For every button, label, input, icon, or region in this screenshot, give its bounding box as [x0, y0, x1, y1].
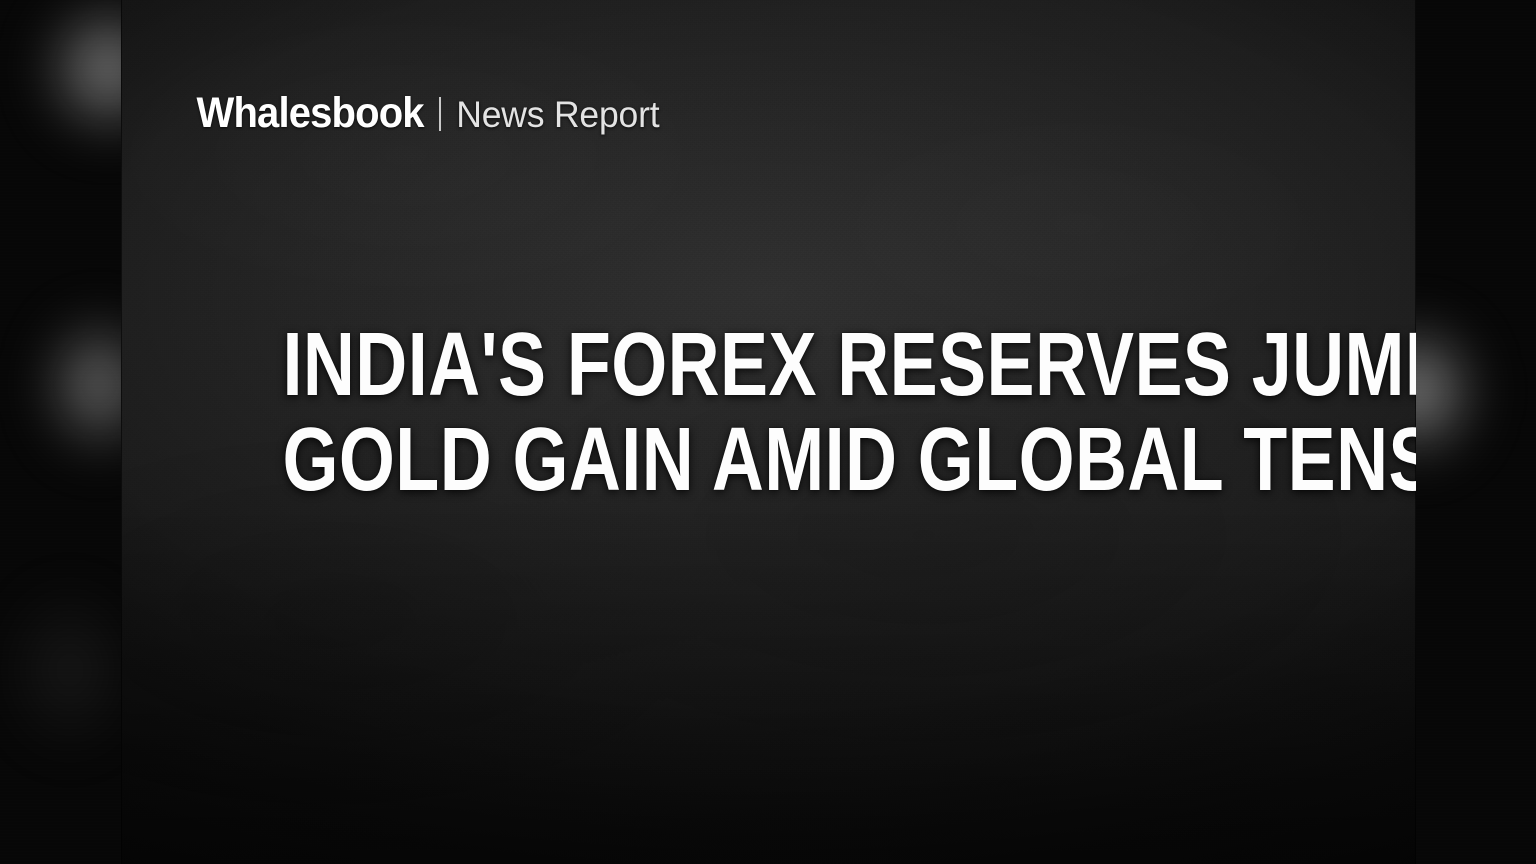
brand-separator-icon [439, 97, 441, 131]
headline-line-2: GOLD GAIN AMID GLOBAL TENSIONS [283, 413, 1255, 508]
card-content: Whalesbook News Report INDIA'S FOREX RES… [121, 0, 1416, 864]
backdrop-bar-right [1416, 0, 1536, 864]
brand-lockup[interactable]: Whalesbook News Report [188, 92, 664, 135]
backdrop-glow-bottom-left [0, 560, 121, 780]
headline-line-1: INDIA'S FOREX RESERVES JUMP $9.06B ON [283, 318, 1255, 413]
backdrop-glow-top-left [18, 0, 121, 164]
headline: INDIA'S FOREX RESERVES JUMP $9.06B ON GO… [121, 318, 1416, 508]
brand-name: Whalesbook [197, 92, 424, 135]
backdrop-glow-middle-left [24, 290, 121, 480]
news-card-stage: Whalesbook News Report INDIA'S FOREX RES… [0, 0, 1536, 864]
news-card: Whalesbook News Report INDIA'S FOREX RES… [121, 0, 1416, 864]
brand-tagline: News Report [456, 96, 659, 133]
backdrop-bar-left [0, 0, 121, 864]
backdrop-glow-middle-right [1416, 296, 1500, 486]
